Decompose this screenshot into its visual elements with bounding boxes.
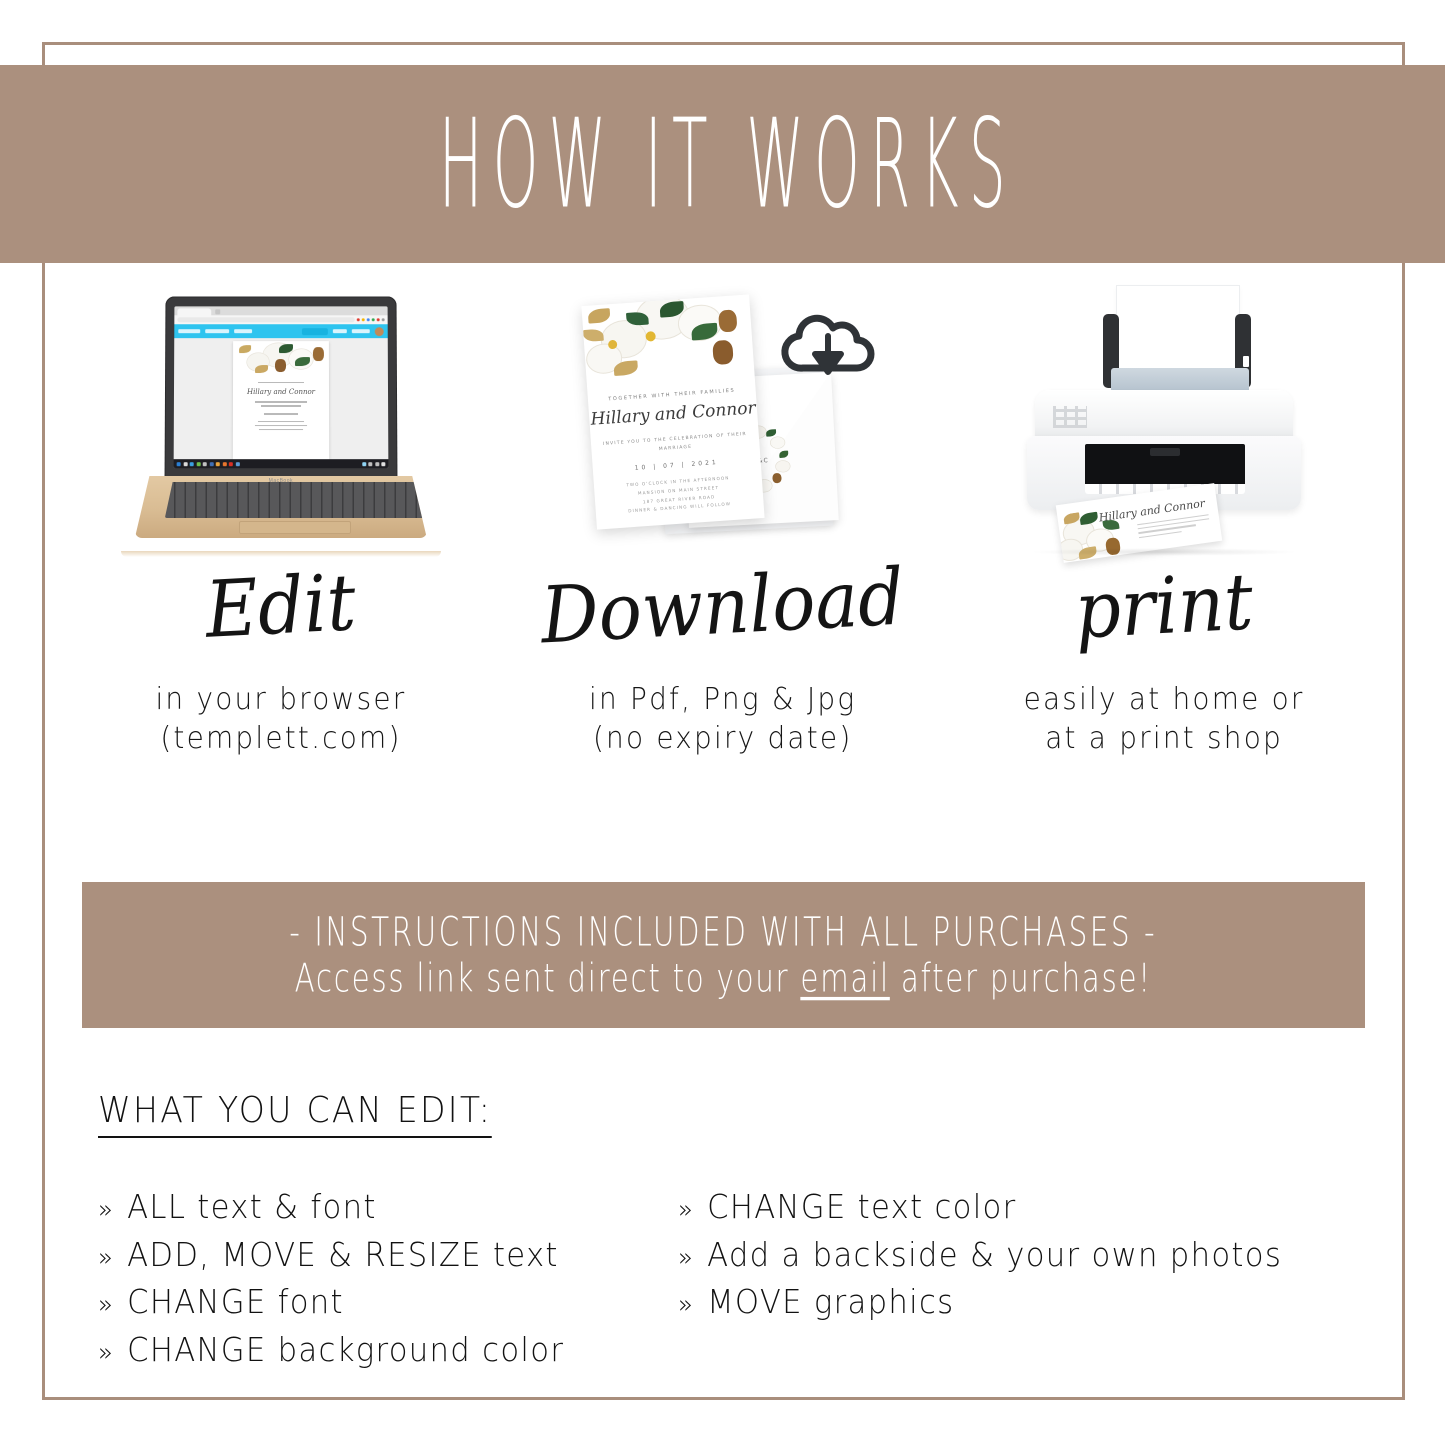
new-tab-icon — [215, 309, 220, 314]
invitation-preview: Hillary and Connor — [233, 341, 329, 459]
toolbar-more — [352, 329, 370, 333]
invitation-envelope-icon: H&C — [573, 292, 873, 554]
printed-body-lines — [1137, 514, 1211, 541]
card-floral-graphic — [581, 294, 754, 388]
laptop-lid: Hillary and Connor — [164, 296, 397, 484]
browser-tab — [177, 308, 211, 315]
list-item-label: ADD, MOVE & RESIZE text — [127, 1234, 559, 1276]
printer-output-slot — [1085, 444, 1245, 488]
page-title: HOW IT WORKS — [429, 103, 1016, 226]
instructions-subline-after: after purchase! — [890, 956, 1152, 1001]
invitation-names: Hillary and Connor — [233, 388, 329, 396]
step-caption-line1: in Pdf, Png & Jpg — [589, 680, 856, 719]
list-item: » CHANGE text color — [678, 1186, 1329, 1228]
step-caption-line2: at a print shop — [1024, 719, 1305, 758]
chevron-double-right-icon: » — [678, 1289, 694, 1322]
laptop-trackpad — [239, 521, 351, 534]
printer-shadow — [1029, 548, 1299, 556]
printer-body-top — [1035, 390, 1293, 442]
laptop-brand-label: MacBook — [269, 478, 293, 552]
step-caption-line2: (templett.com) — [155, 719, 406, 758]
list-item-label: Add a backside & your own photos — [707, 1234, 1282, 1276]
printer-control-panel — [1053, 406, 1087, 428]
chevron-double-right-icon: » — [98, 1194, 114, 1227]
card-date: 10 | 07 | 2021 — [592, 456, 760, 475]
printer-input-paper — [1117, 286, 1239, 378]
edit-column-left: » ALL text & font » ADD, MOVE & RESIZE t… — [98, 1186, 678, 1370]
toolbar-save — [333, 329, 347, 333]
chevron-double-right-icon: » — [98, 1337, 114, 1370]
list-item-label: CHANGE background color — [127, 1329, 564, 1371]
laptop-icon: Hillary and Connor — [121, 296, 441, 554]
editor-toolbar — [174, 324, 387, 338]
list-item: » ADD, MOVE & RESIZE text — [98, 1234, 637, 1276]
list-item-label: CHANGE font — [127, 1281, 344, 1323]
step-caption-print: easily at home or at a print shop — [1024, 680, 1305, 758]
invitation-card: TOGETHER WITH THEIR FAMILIES Hillary and… — [581, 294, 764, 529]
list-item-label: ALL text & font — [127, 1186, 377, 1228]
step-caption-edit: in your browser (templett.com) — [155, 680, 406, 758]
edit-column-right: » CHANGE text color » Add a backside & y… — [678, 1186, 1378, 1370]
laptop-keyboard — [165, 482, 425, 518]
what-you-can-edit-section: WHAT YOU CAN EDIT: » ALL text & font » A… — [98, 1090, 1398, 1370]
list-item: » CHANGE background color — [98, 1329, 637, 1371]
step-script-label-print: print — [1073, 563, 1255, 650]
laptop-screen: Hillary and Connor — [173, 306, 388, 468]
avatar — [375, 327, 384, 336]
browser-extension-icons — [357, 318, 385, 321]
email-link[interactable]: email — [801, 956, 890, 1001]
printer-artwork: Hillary and Connor — [943, 282, 1385, 554]
steps-row: Hillary and Connor — [60, 282, 1385, 812]
laptop-artwork: Hillary and Connor — [60, 282, 502, 554]
toolbar-menu-file — [178, 329, 200, 333]
toolbar-menu-options — [205, 329, 229, 333]
browser-address-bar — [174, 315, 387, 324]
card-names: Hillary and Connor — [588, 398, 757, 430]
chevron-double-right-icon: » — [678, 1242, 694, 1275]
list-item: » Add a backside & your own photos — [678, 1234, 1329, 1276]
url-field — [177, 317, 354, 322]
chevron-double-right-icon: » — [98, 1242, 114, 1275]
instructions-subline-before: Access link sent direct to your — [295, 956, 801, 1001]
floral-graphic — [233, 341, 329, 379]
list-item: » MOVE graphics — [678, 1281, 1329, 1323]
step-caption-line1: in your browser — [155, 680, 406, 719]
chevron-double-right-icon: » — [98, 1289, 114, 1322]
toolbar-menu-help — [234, 329, 252, 333]
toolbar-download-button — [302, 328, 328, 335]
step-caption-download: in Pdf, Png & Jpg (no expiry date) — [589, 680, 856, 758]
os-taskbar — [173, 459, 388, 468]
list-item-label: MOVE graphics — [707, 1281, 954, 1323]
printer-icon: Hillary and Connor — [999, 286, 1329, 554]
cloud-download-icon — [773, 306, 877, 388]
instructions-banner: - INSTRUCTIONS INCLUDED WITH ALL PURCHAS… — [82, 882, 1365, 1028]
card-subtitle: INVITE YOU TO THE CELEBRATION OF THEIR M… — [590, 430, 759, 459]
instructions-headline: - INSTRUCTIONS INCLUDED WITH ALL PURCHAS… — [290, 909, 1158, 955]
list-item: » ALL text & font — [98, 1186, 637, 1228]
step-script-label-download: Download — [539, 559, 906, 656]
step-print: Hillary and Connor print easily at home … — [943, 282, 1385, 812]
chevron-double-right-icon: » — [678, 1194, 694, 1227]
edit-columns: » ALL text & font » ADD, MOVE & RESIZE t… — [98, 1186, 1398, 1370]
card-footer: TWO O'CLOCK IN THE AFTERNOON MANSION ON … — [593, 472, 763, 519]
editor-canvas: Hillary and Connor — [173, 338, 388, 459]
instructions-subline: Access link sent direct to your email af… — [295, 956, 1152, 1001]
browser-tabstrip — [174, 306, 387, 315]
list-item-label: CHANGE text color — [707, 1186, 1016, 1228]
step-edit: Hillary and Connor — [60, 282, 502, 812]
invitation-artwork: H&C — [502, 282, 944, 554]
step-caption-line1: easily at home or — [1024, 680, 1305, 719]
header-band: HOW IT WORKS — [0, 65, 1445, 263]
step-script-label-edit: Edit — [204, 564, 358, 650]
edit-section-heading: WHAT YOU CAN EDIT: — [98, 1090, 492, 1138]
step-caption-line2: (no expiry date) — [589, 719, 856, 758]
list-item: » CHANGE font — [98, 1281, 637, 1323]
step-download: H&C — [502, 282, 944, 812]
